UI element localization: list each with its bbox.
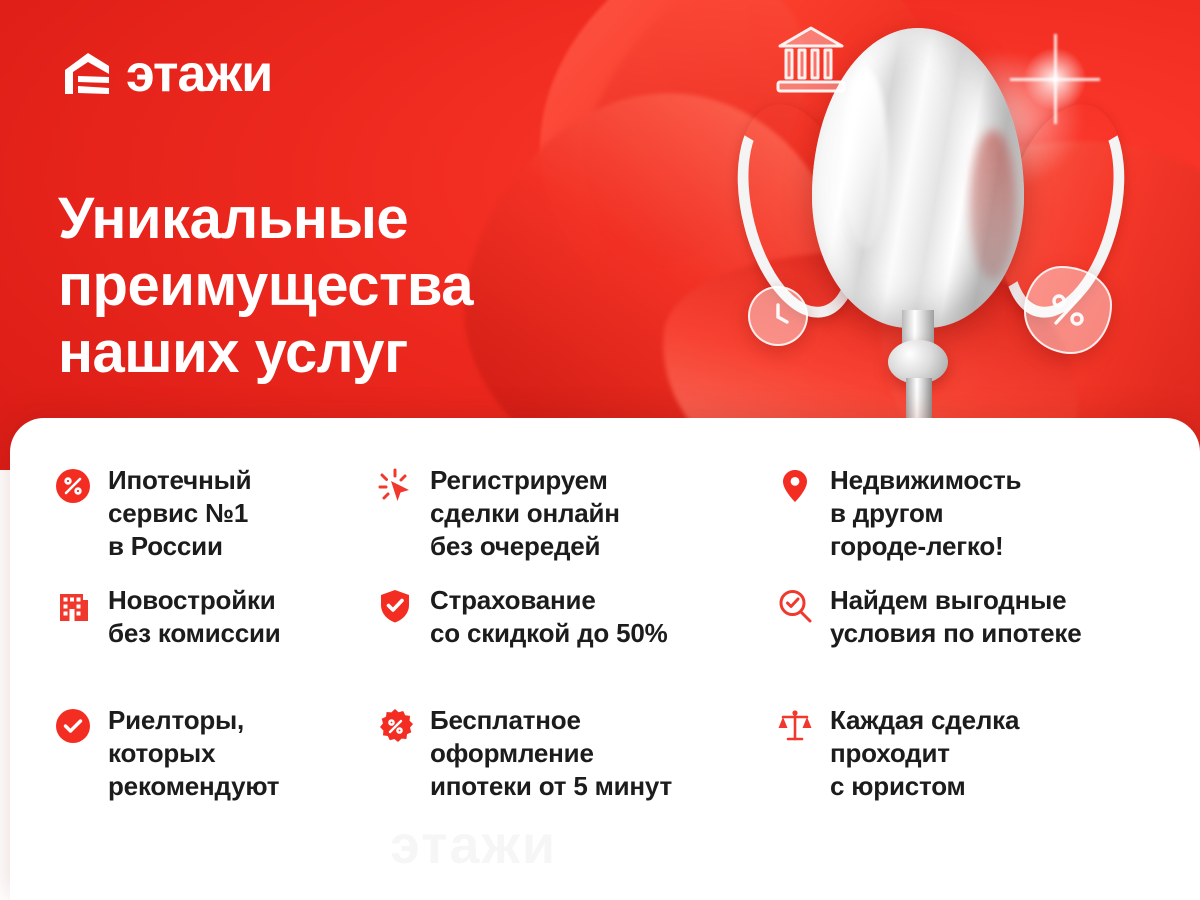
feature-label: Бесплатное оформление ипотеки от 5 минут	[430, 704, 672, 802]
shield-check-icon	[376, 587, 414, 625]
feature-item: Найдем выгодные условия по ипотеке	[776, 578, 1164, 696]
feature-item: Новостройки без комиссии	[54, 578, 376, 696]
clock-icon	[748, 286, 808, 346]
sparkle-icon	[1010, 34, 1100, 124]
feature-label: Страхование со скидкой до 50%	[430, 584, 668, 650]
features-grid: Ипотечный сервис №1 в России	[54, 458, 1164, 816]
feature-label: Ипотечный сервис №1 в России	[108, 464, 251, 562]
feature-item: Бесплатное оформление ипотеки от 5 минут	[376, 698, 776, 816]
feature-item: Регистрируем сделки онлайн без очередей	[376, 458, 776, 576]
feature-item: Недвижимость в другом городе-легко!	[776, 458, 1164, 576]
percent-starburst-icon	[376, 707, 414, 745]
feature-label: Каждая сделка проходит с юристом	[830, 704, 1019, 802]
brand-name: этажи	[126, 48, 272, 100]
headline-line-2: преимущества	[58, 252, 473, 319]
feature-label: Найдем выгодные условия по ипотеке	[830, 584, 1082, 650]
promo-banner: этажи Уникальные преимущества наших услу…	[0, 0, 1200, 900]
location-pin-icon	[776, 467, 814, 505]
apartment-building-icon	[54, 587, 92, 625]
brand-logo[interactable]: этажи	[62, 48, 272, 100]
bank-columns-icon	[770, 20, 852, 100]
feature-item: Каждая сделка проходит с юристом	[776, 698, 1164, 816]
check-circle-icon	[54, 707, 92, 745]
cursor-click-icon	[376, 467, 414, 505]
headline-line-1: Уникальные	[58, 185, 473, 252]
feature-item: Страхование со скидкой до 50%	[376, 578, 776, 696]
feature-label: Риелторы, которых рекомендуют	[108, 704, 279, 802]
headline-line-3: наших услуг	[58, 319, 473, 386]
feature-label: Недвижимость в другом городе-легко!	[830, 464, 1021, 562]
feature-item: Риелторы, которых рекомендуют	[54, 698, 376, 816]
feature-item: Ипотечный сервис №1 в России	[54, 458, 376, 576]
feature-label: Регистрируем сделки онлайн без очередей	[430, 464, 620, 562]
scales-justice-icon	[776, 707, 814, 745]
features-card: этажи этажи Ипотечный сервис №1 в России	[10, 418, 1200, 900]
search-check-icon	[776, 587, 814, 625]
hero-section: этажи Уникальные преимущества наших услу…	[0, 0, 1200, 470]
percent-circle-icon	[54, 467, 92, 505]
percent-badge-icon	[1024, 266, 1112, 354]
building-floors-icon	[62, 50, 112, 98]
page-title: Уникальные преимущества наших услуг	[58, 185, 473, 387]
watermark: этажи	[390, 814, 557, 876]
feature-label: Новостройки без комиссии	[108, 584, 281, 650]
